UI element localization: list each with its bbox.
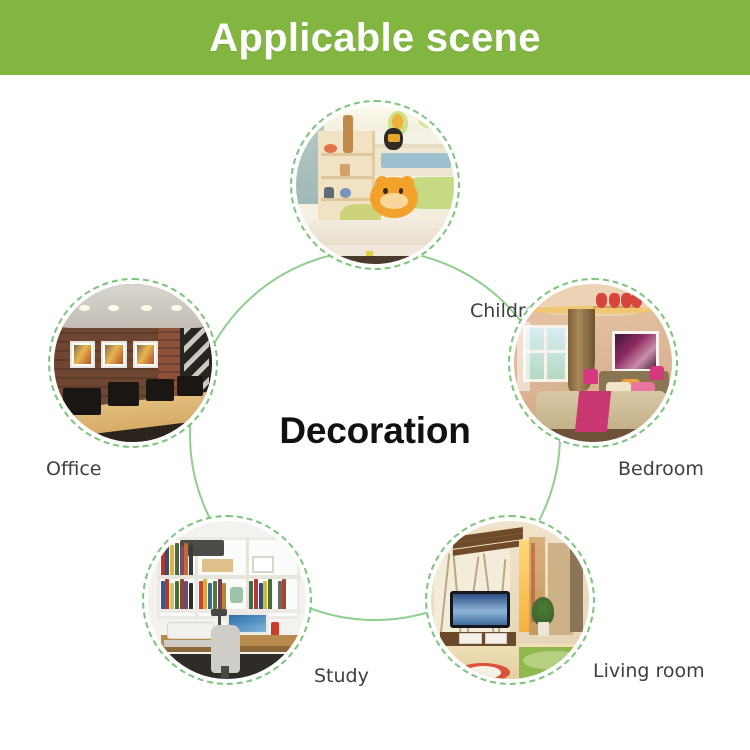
- study-scene: [148, 521, 306, 679]
- node-office[interactable]: Office: [48, 278, 218, 448]
- node-label-bedroom: Bedroom: [618, 458, 704, 480]
- node-label-office: Office: [46, 458, 101, 480]
- living-room-photo: [431, 521, 589, 679]
- node-children-room[interactable]: Children's room: [290, 100, 460, 270]
- office-scene: [54, 284, 212, 442]
- living-room-scene: [431, 521, 589, 679]
- node-living-room[interactable]: Living room: [425, 515, 595, 685]
- office-circle[interactable]: [48, 278, 218, 448]
- node-study[interactable]: Study: [142, 515, 312, 685]
- study-circle[interactable]: [142, 515, 312, 685]
- bedroom-circle[interactable]: [508, 278, 678, 448]
- children-room-photo: [296, 106, 454, 264]
- node-bedroom[interactable]: Bedroom: [508, 278, 678, 448]
- node-label-living-room: Living room: [593, 660, 705, 682]
- page-title: Applicable scene: [209, 18, 541, 58]
- office-photo: [54, 284, 212, 442]
- living-room-circle[interactable]: [425, 515, 595, 685]
- bedroom-photo: [514, 284, 672, 442]
- children-room-circle[interactable]: [290, 100, 460, 270]
- children-room-scene: [296, 106, 454, 264]
- study-photo: [148, 521, 306, 679]
- node-label-study: Study: [314, 665, 369, 687]
- header-bar: Applicable scene: [0, 0, 750, 75]
- applicable-scene-diagram: Decoration Children's room: [0, 75, 750, 750]
- bedroom-scene: [514, 284, 672, 442]
